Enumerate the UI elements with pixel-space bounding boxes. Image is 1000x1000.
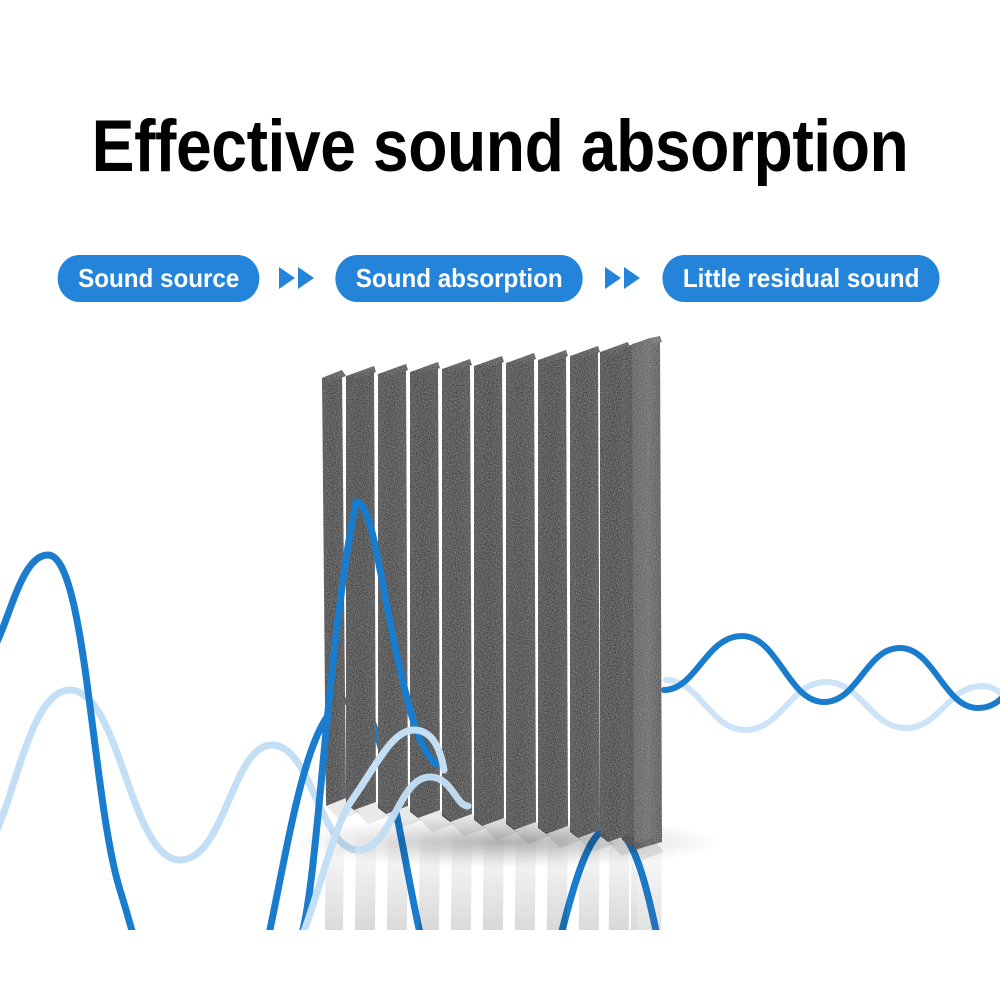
double-chevron-right-icon: [593, 267, 652, 289]
step-pill-sound-absorption[interactable]: Sound absorption: [336, 255, 584, 302]
product-feature-image: Effective sound absorption Sound source …: [0, 0, 1000, 1000]
chevron-right-icon: [624, 267, 640, 289]
chevron-right-icon: [605, 267, 621, 289]
step-pill-sound-source[interactable]: Sound source: [58, 255, 260, 302]
page-title: Effective sound absorption: [60, 104, 940, 190]
residual-strong-wave: [664, 636, 1000, 708]
acoustic-foam-panel: [290, 336, 720, 930]
chevron-right-icon: [298, 267, 314, 289]
double-chevron-right-icon: [267, 267, 326, 289]
chevron-right-icon: [279, 267, 295, 289]
process-steps: Sound source Sound absorption Little res…: [0, 253, 1000, 303]
step-pill-little-residual-sound[interactable]: Little residual sound: [662, 255, 939, 302]
sound-absorption-illustration: [0, 330, 1000, 930]
